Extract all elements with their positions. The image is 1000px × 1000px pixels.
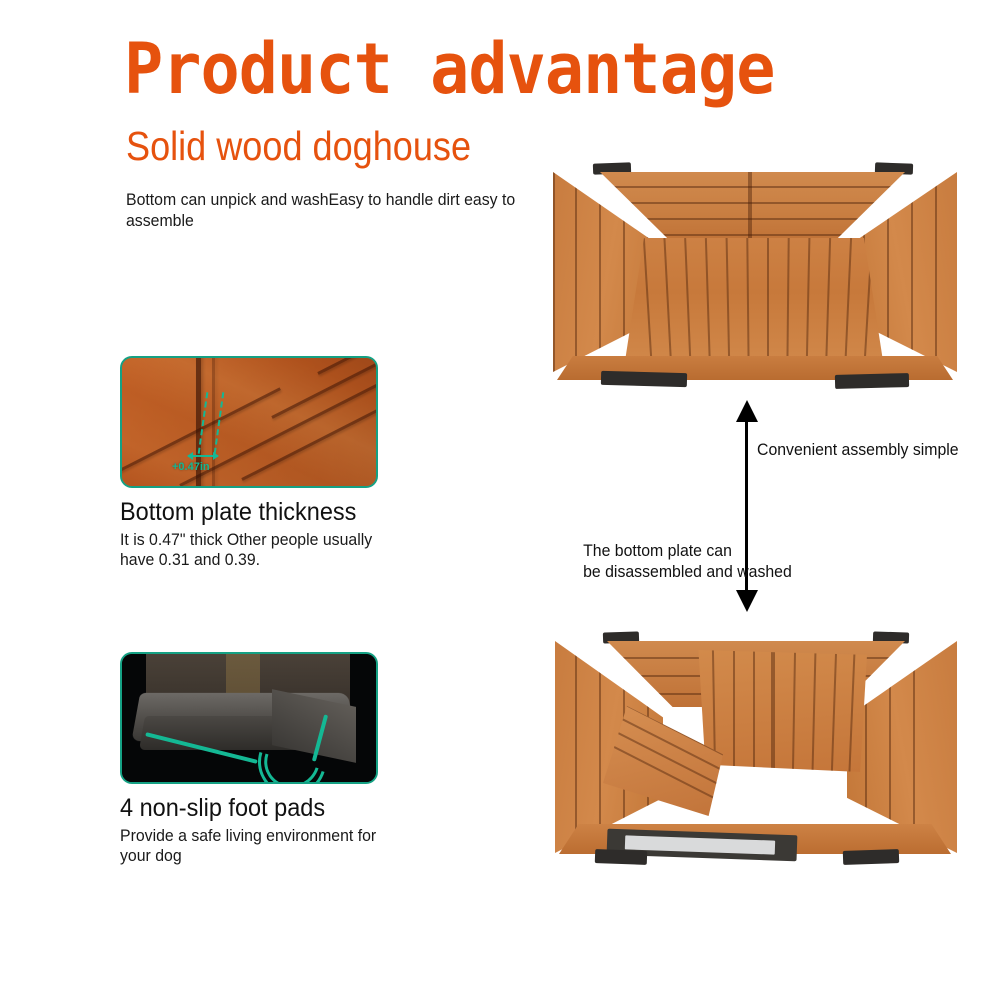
product-photo-assembled [545,160,965,395]
feature-heading-thickness: Bottom plate thickness [120,498,402,526]
arrow-head-down [736,590,758,612]
infographic-page: Product advantage Solid wood doghouse Bo… [0,0,1000,1000]
feature-non-slip-foot-pads: 4 non-slip foot pads Provide a safe livi… [120,652,420,866]
thickness-arrow [188,455,218,457]
note-bottom-plate-line1: The bottom plate can [583,541,732,562]
page-subtitle: Solid wood doghouse [126,124,471,169]
feature-bottom-plate-thickness: +0.47in Bottom plate thickness It is 0.4… [120,356,420,570]
wood-closeup-photo: +0.47in [122,358,376,486]
intro-text: Bottom can unpick and washEasy to handle… [126,190,529,232]
footpad-closeup-photo [122,654,376,782]
page-title: Product advantage [124,34,774,104]
crate-back-wall-slats [600,172,905,244]
product-photo-disassembled [545,628,965,878]
thickness-photo-frame: +0.47in [120,356,378,488]
crate-foot-bottom-right [835,373,909,389]
note-bottom-plate-line2: be disassembled and washed [583,562,732,583]
crate-bottom-plate-slats [623,238,885,374]
note-convenient-assembly: Convenient assembly simple [757,440,959,461]
crate2-foot-bottom-left [595,849,647,865]
footpad-photo-frame [120,652,378,784]
crate-foot-bottom-left [601,371,687,387]
feature-body-thickness: It is 0.47" thick Other people usually h… [120,530,398,570]
feature-body-footpads: Provide a safe living environment for yo… [120,826,398,866]
feature-heading-footpads: 4 non-slip foot pads [120,794,402,822]
thickness-value-label: +0.47in [172,461,210,473]
crate2-foot-bottom-right [843,849,899,865]
